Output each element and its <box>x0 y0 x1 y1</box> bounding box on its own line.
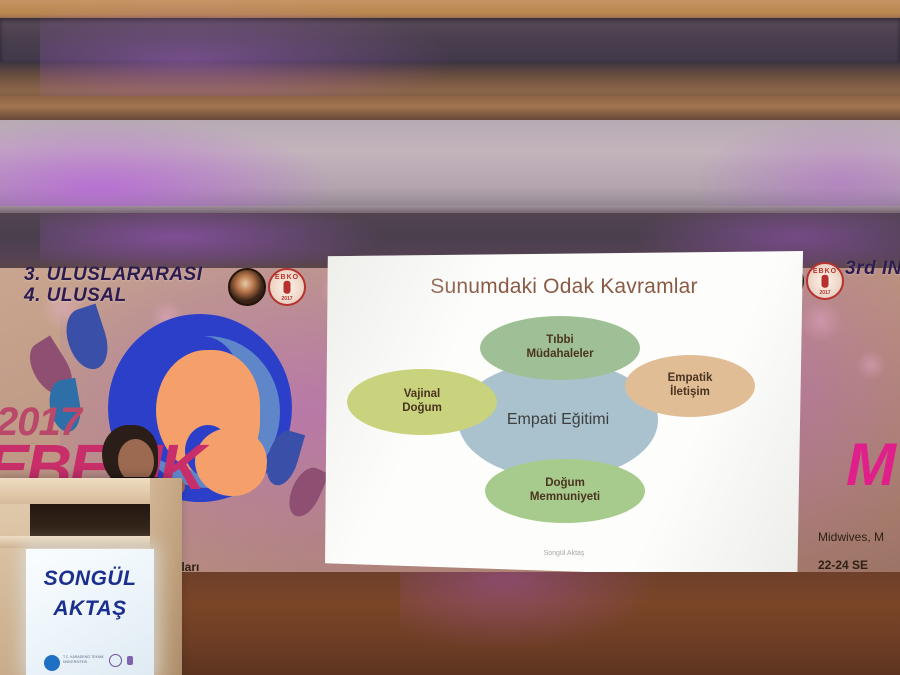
sponsor-ring-icon <box>109 654 122 667</box>
conference-photo-scene: 3. ULUSLARARASI 4. ULUSAL 3rd IN EBKO 20… <box>0 0 900 675</box>
speaker-name-first: SONGÜL <box>26 567 154 591</box>
banner-subtitle-right-b: 22-24 SE <box>818 558 868 572</box>
sponsor-figure-icon <box>127 656 133 665</box>
upper-wall-purple-wash <box>0 120 330 210</box>
venn-diagram: Empati Eğitimi Tıbbi Müdahaleler Vajinal… <box>325 307 803 537</box>
venn-node-line1: Doğum <box>530 477 600 491</box>
venn-node-line1: Vajinal <box>402 388 442 402</box>
venn-node-line2: Doğum <box>402 402 442 416</box>
venn-node-line1: Tıbbi <box>526 334 593 348</box>
ceiling-purple-glow <box>40 0 460 100</box>
ebko-figure-icon <box>284 281 291 294</box>
slide-footer: Songül Aktaş <box>325 550 803 557</box>
podium-sponsor-logos: T.C. KARADENİZ TEKNİK ÜNİVERSİTESİ <box>40 651 144 669</box>
venn-node-vajinal-dogum: Vajinal Doğum <box>347 369 497 435</box>
ebko-year: 2017 <box>808 290 842 296</box>
upper-wall-purple-wash-right <box>700 120 900 210</box>
venn-node-line1: Empatik <box>668 372 713 386</box>
speaker-name-last: AKTAŞ <box>26 597 154 621</box>
sponsor-blue-dot-icon <box>44 655 60 671</box>
podium-side-panel <box>150 478 182 675</box>
podium-recess <box>30 500 150 538</box>
ebko-figure-icon <box>822 275 829 288</box>
podium-name-sign: SONGÜL AKTAŞ T.C. KARADENİZ TEKNİK ÜNİVE… <box>26 549 154 675</box>
bokeh-circle <box>856 350 886 380</box>
venn-node-line2: Müdahaleler <box>526 348 593 362</box>
ebko-label: EBKO <box>808 268 842 275</box>
ebko-label: EBKO <box>270 274 304 281</box>
venn-node-empatik-iletisim: Empatik İletişim <box>625 355 755 417</box>
lower-wall-glow <box>400 572 660 652</box>
sponsor-text-line2: ÜNİVERSİTESİ <box>63 660 104 665</box>
venn-node-tibbi-mudahaleler: Tıbbi Müdahaleler <box>480 316 640 380</box>
banner-brand-right: M <box>846 430 896 499</box>
banner-subtitle-right-a: Midwives, M <box>818 530 884 544</box>
bokeh-circle <box>800 300 842 342</box>
banner-title-right: 3rd IN <box>845 258 900 280</box>
logo-baby-face <box>195 428 267 496</box>
projection-screen: Sunumdaki Odak Kavramlar Empati Eğitimi … <box>325 251 803 579</box>
venn-center-label: Empati Eğitimi <box>507 411 609 430</box>
venn-node-dogum-memnuniyeti: Doğum Memnuniyeti <box>485 459 645 523</box>
venn-node-line2: Memnuniyeti <box>530 491 600 505</box>
slide-title: Sunumdaki Odak Kavramlar <box>325 275 803 299</box>
venn-node-line2: İletişim <box>668 386 713 400</box>
ebko-seal-icon: EBKO 2017 <box>806 262 844 300</box>
sponsor-text-block: T.C. KARADENİZ TEKNİK ÜNİVERSİTESİ <box>63 655 104 666</box>
banner-title-line1: 3. ULUSLARARASI <box>24 264 203 286</box>
